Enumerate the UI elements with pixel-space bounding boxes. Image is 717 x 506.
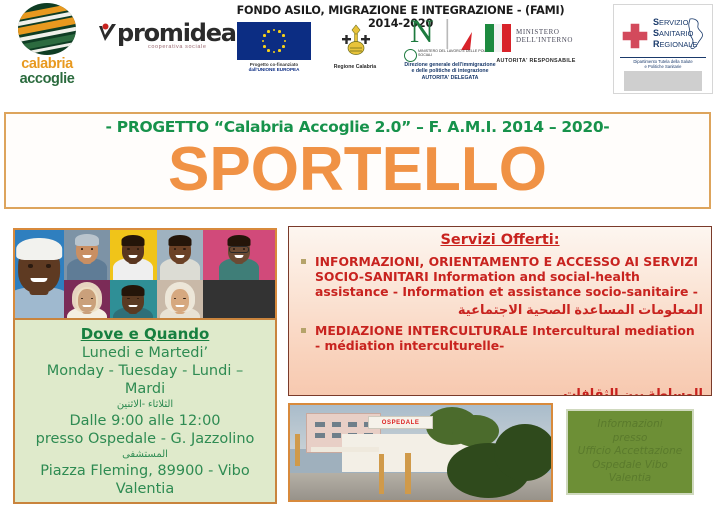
- face-photo: [15, 230, 64, 329]
- ml-letter-l: |: [444, 16, 451, 49]
- hospital-entrance-photo: OSPEDALE: [288, 403, 553, 502]
- ssr-caption-line2: e Politiche Sanitarie: [618, 64, 708, 69]
- eu-caption-line2: dall'UNIONE EUROPEA: [249, 67, 300, 72]
- servizi-item-2-text: MEDIAZIONE INTERCULTURALE Intercultural …: [315, 323, 703, 353]
- bullet-square-icon: [301, 259, 306, 264]
- dove-line7: Valentia: [15, 480, 275, 498]
- ssr-l1-rest: ERVIZIO: [659, 18, 688, 27]
- servizi-item-2: MEDIAZIONE INTERCULTURALE Intercultural …: [301, 323, 703, 353]
- mi-caption: AUTORITA' RESPONSABILE: [484, 58, 588, 64]
- promidea-subtitle: cooperativa sociale: [148, 44, 206, 50]
- project-subtitle: - PROGETTO “Calabria Accoglie 2.0” – F. …: [6, 118, 709, 136]
- bullet-square-icon: [301, 328, 306, 333]
- eu-flag-icon: [237, 22, 311, 60]
- regione-calabria-emblem-icon: [338, 24, 374, 62]
- accoglie-word: accoglie: [8, 72, 86, 87]
- faces-collage-photo: [13, 228, 277, 331]
- regione-calabria-caption: Regione Calabria: [320, 64, 390, 70]
- ml-seal-icon: [404, 49, 417, 62]
- mi-text-line2: DELL'INTERNO: [516, 36, 573, 44]
- info-line4: Ospedale Vibo: [578, 459, 682, 473]
- logo-european-union: Progetto co-finanziato dall'UNIONE EUROP…: [237, 22, 315, 82]
- mi-text-line1: MINISTERO: [516, 28, 573, 36]
- ospedale-sign: OSPEDALE: [368, 416, 433, 428]
- ml-red-wedge-icon: [461, 32, 472, 50]
- check-icon: [98, 23, 118, 45]
- servizi-item-1-arabic: المعلومات المساعدة الصحية الاجتماعية: [289, 302, 703, 317]
- servizi-offerti-panel: Servizi Offerti: INFORMAZIONI, ORIENTAME…: [288, 226, 712, 396]
- dove-arabic-days: الثلاثاء -الاثنين: [15, 398, 275, 412]
- logo-ministero-interno: MINISTERO DELL'INTERNO AUTORITA' RESPONS…: [480, 24, 590, 80]
- face-photo: [157, 230, 203, 280]
- italy-flag-icon: [485, 24, 511, 52]
- poster-root: calabria accoglie promidea cooperativa s…: [0, 0, 717, 506]
- info-line5: Valentia: [578, 472, 682, 486]
- face-photo: [64, 230, 110, 280]
- globe-icon: [18, 3, 76, 55]
- title-banner: - PROGETTO “Calabria Accoglie 2.0” – F. …: [4, 112, 711, 209]
- info-ufficio-accettazione-box: Informazioni presso Ufficio Accettazione…: [566, 409, 694, 495]
- ssr-placeholder-block: [624, 71, 702, 91]
- calabria-map-icon: [686, 17, 708, 51]
- calabria-word: calabria: [8, 57, 86, 72]
- page-title: SPORTELLO: [6, 136, 709, 204]
- dove-line6: Piazza Fleming, 89900 - Vibo: [15, 462, 275, 480]
- info-line1: Informazioni: [578, 418, 682, 432]
- logo-regione-calabria: Regione Calabria: [320, 24, 390, 82]
- servizi-item-1: INFORMAZIONI, ORIENTAMENTO E ACCESSO AI …: [301, 254, 703, 300]
- ospedale-sign-text: OSPEDALE: [382, 420, 420, 426]
- logo-promidea: promidea cooperativa sociale: [98, 16, 218, 60]
- red-cross-icon: [620, 21, 650, 51]
- logo-calabria-accoglie: calabria accoglie: [6, 2, 86, 94]
- dove-line3: Mardi: [15, 380, 275, 398]
- servizi-item-1-text: INFORMAZIONI, ORIENTAMENTO E ACCESSO AI …: [315, 254, 703, 300]
- dove-line1: Lunedi e Martedi’: [15, 344, 275, 362]
- dove-heading: Dove e Quando: [15, 324, 275, 344]
- dove-line4: Dalle 9:00 alle 12:00: [15, 412, 275, 430]
- dove-e-quando-panel: Dove e Quando Lunedi e Martedi’ Monday -…: [13, 318, 277, 504]
- ml-letter-n: N: [410, 16, 434, 49]
- info-line2: presso: [578, 432, 682, 446]
- logo-header-strip: calabria accoglie promidea cooperativa s…: [0, 0, 717, 100]
- face-photo: [110, 230, 156, 280]
- dove-arabic-hospital: المستشفى: [15, 448, 275, 462]
- face-photo: [203, 230, 275, 280]
- servizi-heading: Servizi Offerti:: [289, 232, 711, 248]
- dove-line2: Monday - Tuesday - Lundi –: [15, 362, 275, 380]
- dove-line5: presso Ospedale - G. Jazzolino: [15, 430, 275, 448]
- logo-servizio-sanitario-regionale: SERVIZIO SANITARIO REGIONALE Dipartiment…: [613, 4, 713, 94]
- servizi-item-2-arabic: الوساطة بين الثقافات: [289, 386, 712, 396]
- info-line3: Ufficio Accettazione: [578, 445, 682, 459]
- promidea-wordmark: promidea: [117, 19, 236, 47]
